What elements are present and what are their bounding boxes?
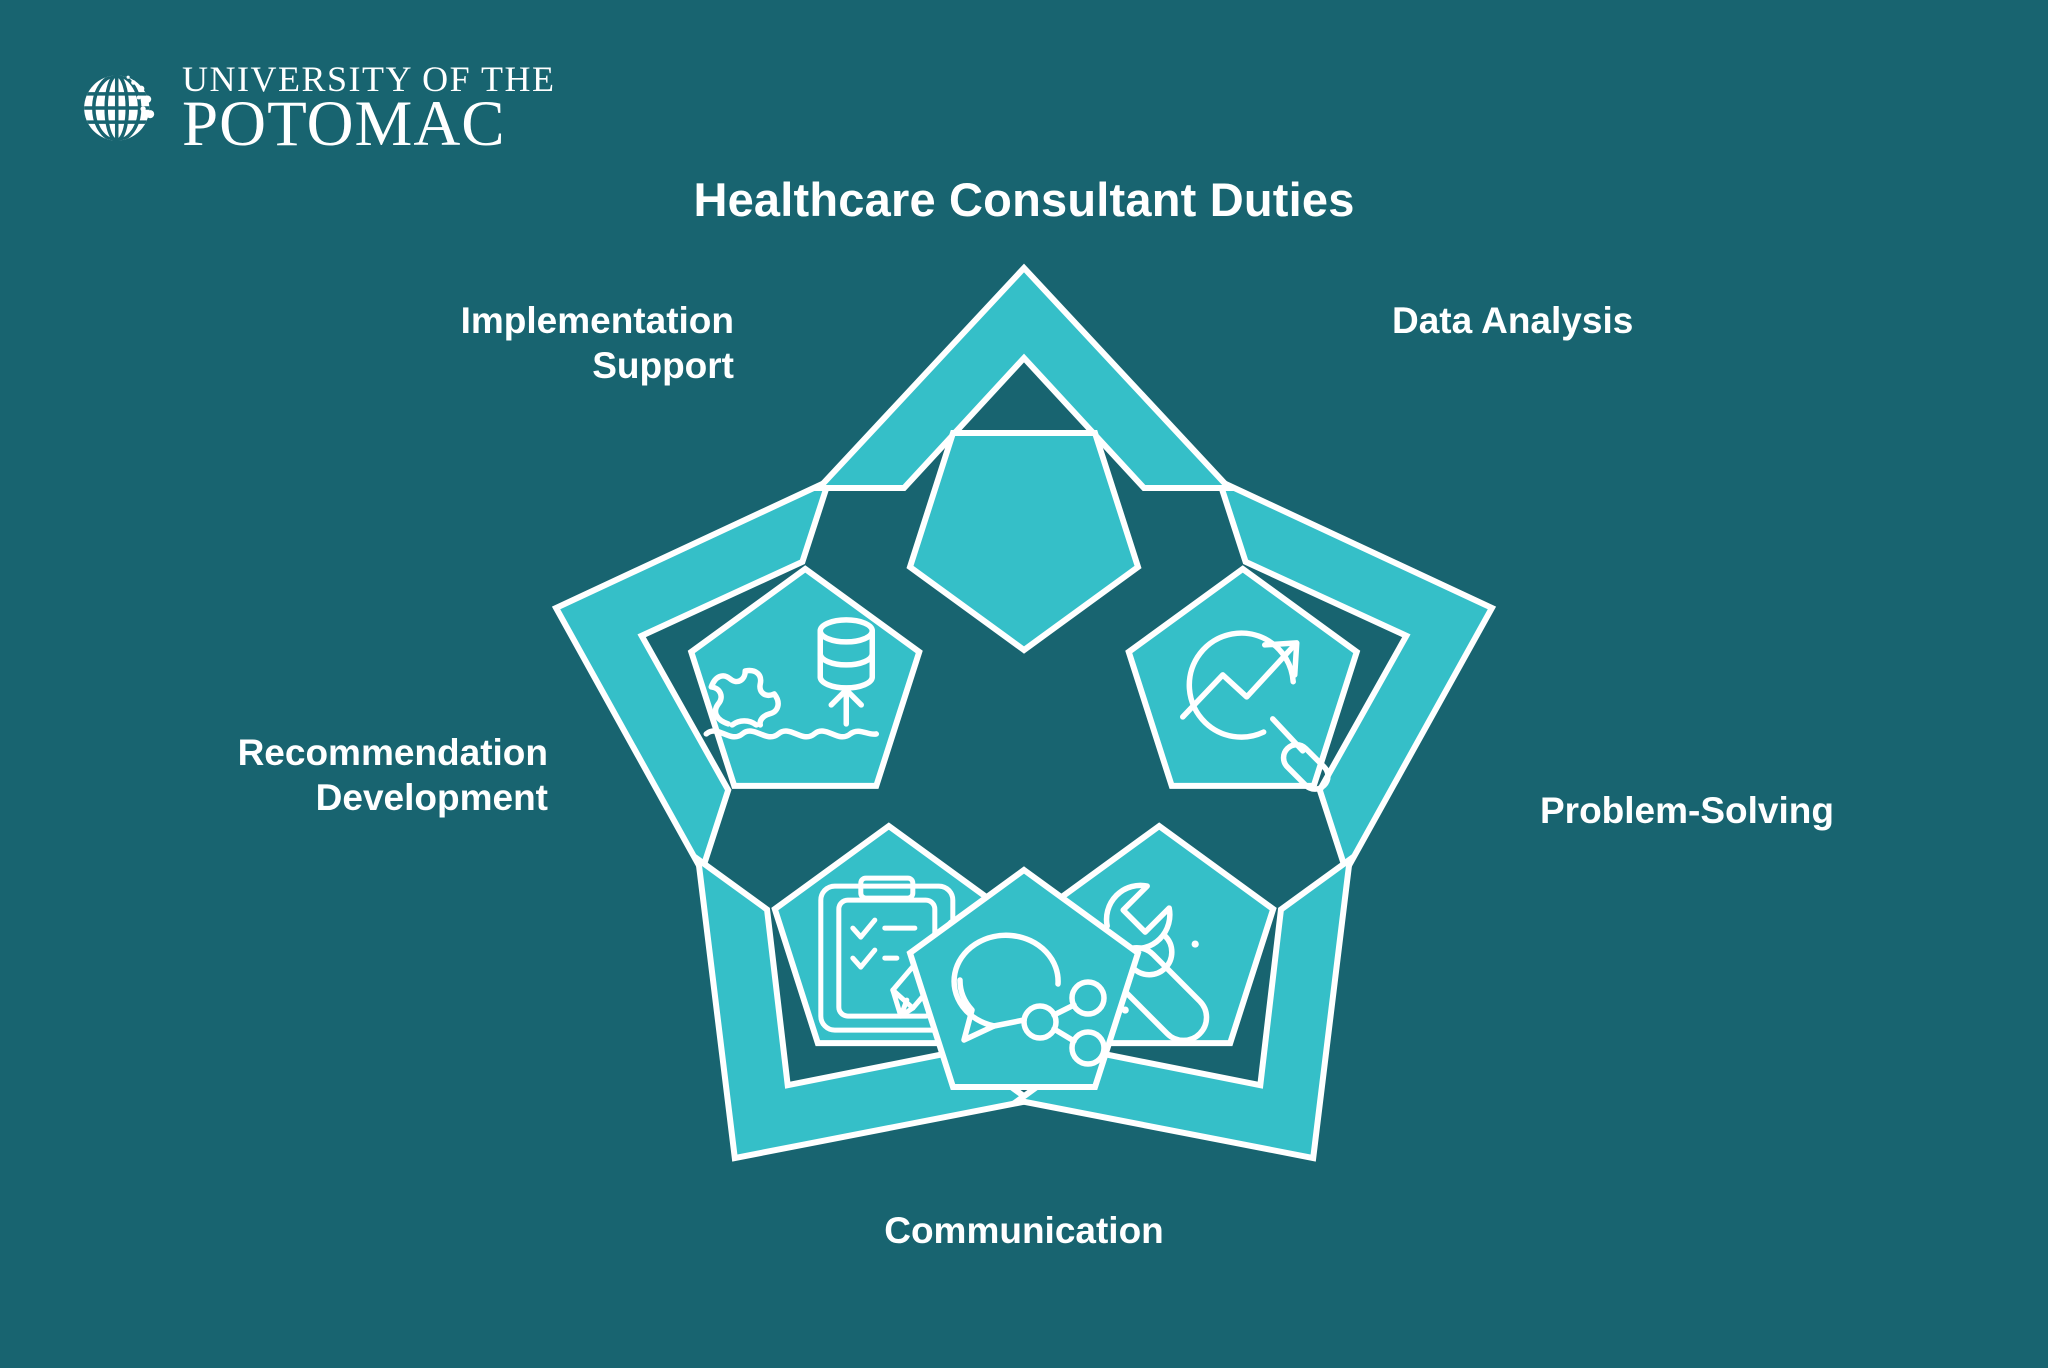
pentagon-communication [910,433,1138,650]
node-label-problem-solving: Problem-Solving [1540,788,2048,833]
node-label-recommendation-development: Recommendation Development [28,730,548,820]
node-label-data-analysis: Data Analysis [1392,298,1852,343]
node-data-analysis[interactable] [1129,569,1357,795]
node-label-implementation-support: Implementation Support [274,298,734,388]
node-communication[interactable] [910,433,1138,650]
node-implementation-support[interactable] [691,569,919,786]
pentagon-data-analysis [1129,569,1357,786]
chevron-ring [493,268,1556,1279]
infographic-diagram [0,0,2048,1368]
node-label-communication: Communication [0,1208,2048,1253]
diagram-canvas [0,0,2048,1368]
